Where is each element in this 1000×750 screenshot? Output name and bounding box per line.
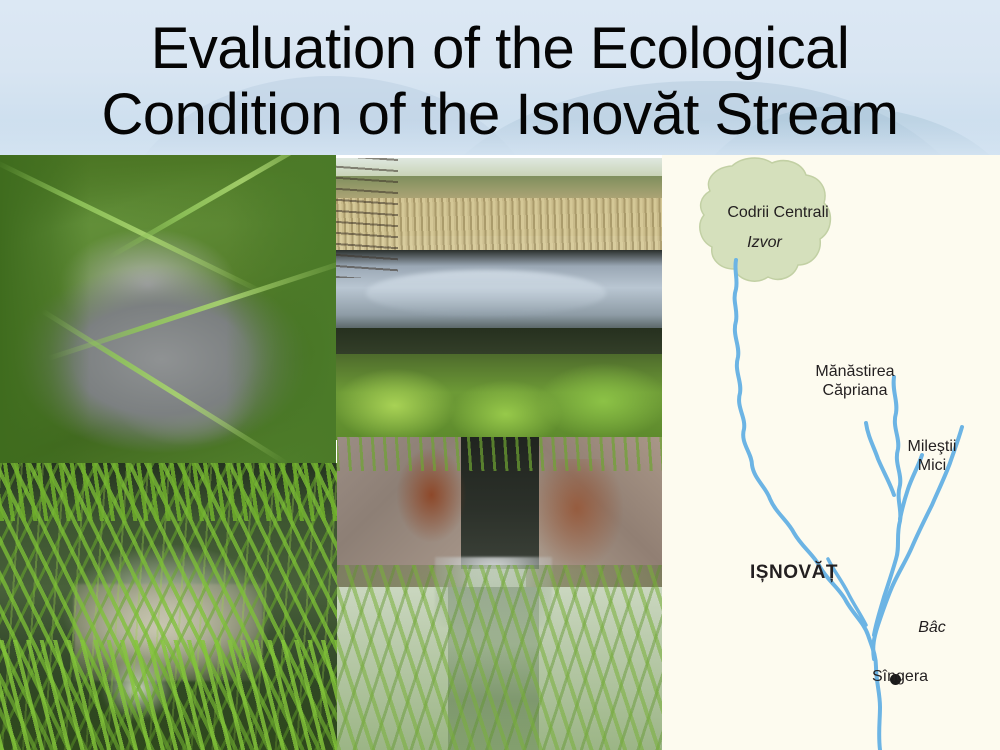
photo-stream-with-silt-and-grass: [0, 463, 337, 750]
map-label-bac: Bâc: [892, 618, 972, 637]
photo-layer: [337, 565, 662, 750]
map-label-isnovat: IȘNOVĂȚ: [694, 563, 894, 582]
photo-concrete-outfall-discharge: [337, 437, 662, 750]
slide-title: Evaluation of the Ecological Condition o…: [0, 16, 1000, 148]
photo-layer: [336, 158, 398, 278]
map-label-codrii-centrali: Codrii Centrali: [662, 203, 894, 222]
photo-stream-pond-with-reeds: [336, 158, 662, 440]
photo-layer: [336, 354, 662, 440]
photo-polluted-stream-grey-sludge: [0, 155, 336, 465]
photo-layer: [226, 155, 336, 465]
presentation-slide: Evaluation of the Ecological Condition o…: [0, 0, 1000, 750]
photo-layer: [0, 463, 337, 521]
map-label-singera: Sîngera: [872, 667, 1000, 686]
photo-layer: [0, 640, 337, 750]
slide-header: Evaluation of the Ecological Condition o…: [0, 0, 1000, 156]
isnovat-main-stream: [735, 260, 880, 750]
map-label-manastirea-capriana: Mănăstirea Căpriana: [767, 362, 943, 400]
map-label-milestii-mici: Mileştii Mici: [877, 437, 987, 475]
photo-collage: [0, 155, 662, 750]
isnovat-basin-map: Codrii Centrali Izvor Mănăstirea Căprian…: [662, 155, 1000, 750]
photo-layer: [337, 437, 662, 471]
photo-layer: [539, 459, 624, 569]
photo-layer: [366, 270, 606, 316]
map-label-izvor: Izvor: [662, 233, 867, 252]
